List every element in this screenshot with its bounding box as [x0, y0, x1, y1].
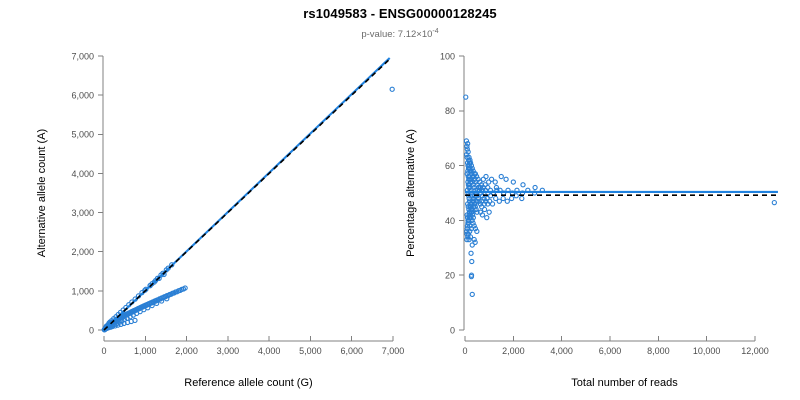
x-tick-label-left: 3,000	[217, 346, 240, 356]
x-tick-label-left: 5,000	[299, 346, 322, 356]
y-tick-label-left: 3,000	[71, 208, 94, 218]
x-tick-label-left: 1,000	[134, 346, 157, 356]
x-tick-label-left: 4,000	[258, 346, 281, 356]
data-point	[504, 177, 508, 181]
y-tick-label-right: 20	[445, 271, 455, 281]
x-tick-label-right: 8,000	[647, 346, 670, 356]
data-point	[510, 196, 514, 200]
y-axis-title-right: Percentage alternative (A)	[405, 129, 417, 257]
data-point	[484, 174, 488, 178]
x-tick-label-left: 7,000	[382, 346, 405, 356]
y-tick-label-right: 40	[445, 216, 455, 226]
x-tick-label-right: 10,000	[693, 346, 721, 356]
data-points-left	[102, 87, 394, 332]
x-tick-label-right: 12,000	[741, 346, 769, 356]
data-point	[521, 183, 525, 187]
data-point	[520, 196, 524, 200]
x-tick-label-left: 2,000	[175, 346, 198, 356]
y-tick-label-left: 7,000	[71, 51, 94, 61]
data-point	[469, 251, 473, 255]
y-tick-label-right: 80	[445, 106, 455, 116]
data-point	[470, 292, 474, 296]
data-point	[493, 180, 497, 184]
y-tick-label-left: 6,000	[71, 91, 94, 101]
x-axis-title-left: Reference allele count (G)	[184, 377, 312, 389]
data-point	[482, 207, 486, 211]
panel-right: 02040608010002,0004,0006,0008,00010,0001…	[405, 51, 778, 389]
y-tick-label-right: 60	[445, 161, 455, 171]
x-tick-label-right: 0	[462, 346, 467, 356]
x-tick-label-right: 2,000	[502, 346, 525, 356]
y-tick-label-left: 1,000	[71, 286, 94, 296]
data-point	[470, 259, 474, 263]
y-tick-label-right: 0	[450, 325, 455, 335]
y-tick-label-left: 5,000	[71, 130, 94, 140]
x-axis-title-right: Total number of reads	[571, 377, 678, 389]
data-point	[533, 185, 537, 189]
x-tick-label-right: 4,000	[550, 346, 573, 356]
data-point	[499, 174, 503, 178]
y-tick-label-right: 100	[440, 51, 455, 61]
scatter-plot-canvas: 01,0002,0003,0004,0005,0006,0007,00001,0…	[0, 0, 800, 400]
data-point	[505, 199, 509, 203]
x-tick-label-right: 6,000	[599, 346, 622, 356]
data-point	[485, 216, 489, 220]
data-point	[490, 202, 494, 206]
data-point	[487, 210, 491, 214]
data-point	[511, 180, 515, 184]
y-tick-label-left: 2,000	[71, 247, 94, 257]
x-tick-label-left: 0	[101, 346, 106, 356]
panel-left: 01,0002,0003,0004,0005,0006,0007,00001,0…	[36, 51, 404, 389]
y-axis-title-left: Alternative allele count (A)	[36, 129, 48, 257]
figure-root: rs1049583 - ENSG00000128245 p-value: 7.1…	[0, 0, 800, 400]
y-tick-label-left: 4,000	[71, 169, 94, 179]
data-point	[772, 200, 776, 204]
data-point	[497, 199, 501, 203]
data-point	[501, 196, 505, 200]
y-tick-label-left: 0	[89, 325, 94, 335]
data-point	[470, 243, 474, 247]
data-point	[390, 87, 394, 91]
x-tick-label-left: 6,000	[340, 346, 363, 356]
